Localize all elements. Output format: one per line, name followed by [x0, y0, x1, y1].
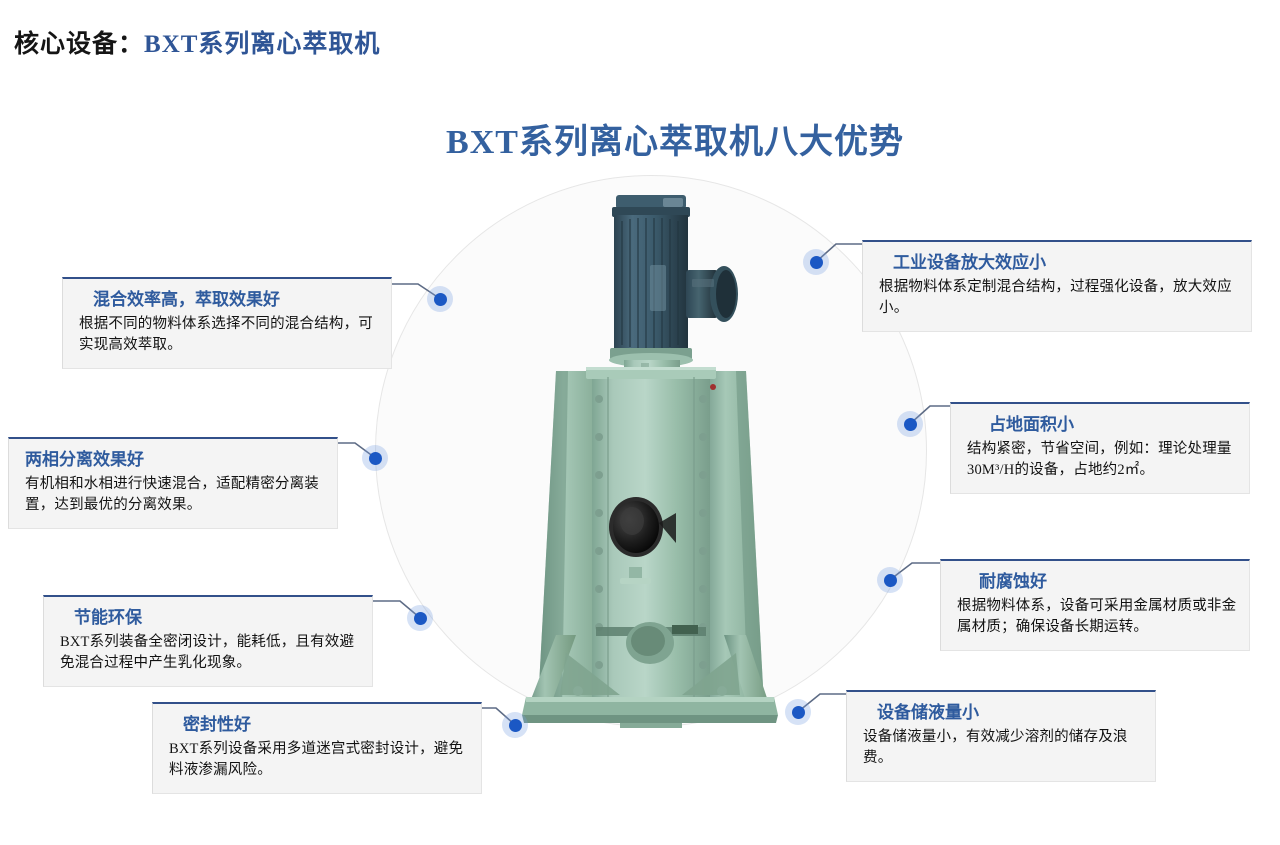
- advantage-title: 两相分离效果好: [25, 448, 325, 472]
- node-corrosion-resistance[interactable]: [877, 567, 903, 593]
- advantage-card-low-holdup[interactable]: 设备储液量小 设备储液量小，有效减少溶剂的储存及浪费。: [846, 690, 1156, 782]
- advantage-title: 节能环保: [60, 606, 360, 630]
- advantage-title: 工业设备放大效应小: [879, 251, 1239, 275]
- advantage-card-two-phase-separation[interactable]: 两相分离效果好 有机相和水相进行快速混合，适配精密分离装置，达到最优的分离效果。: [8, 437, 338, 529]
- slide-canvas: 核心设备：BXT系列离心萃取机 BXT系列离心萃取机八大优势: [0, 0, 1280, 845]
- node-two-phase-separation[interactable]: [362, 445, 388, 471]
- advantage-card-mixing-efficiency[interactable]: 混合效率高，萃取效果好 根据不同的物料体系选择不同的混合结构，可实现高效萃取。: [62, 277, 392, 369]
- advantage-title: 设备储液量小: [863, 701, 1143, 725]
- advantage-body: 根据物料体系定制混合结构，过程强化设备，放大效应小。: [879, 277, 1239, 319]
- node-sealing[interactable]: [502, 712, 528, 738]
- node-mixing-efficiency[interactable]: [427, 286, 453, 312]
- advantage-card-corrosion-resistance[interactable]: 耐腐蚀好 根据物料体系，设备可采用金属材质或非金属材质；确保设备长期运转。: [940, 559, 1250, 651]
- node-scale-up-effect[interactable]: [803, 249, 829, 275]
- advantage-body: 根据物料体系，设备可采用金属材质或非金属材质；确保设备长期运转。: [957, 596, 1237, 638]
- advantage-card-scale-up-effect[interactable]: 工业设备放大效应小 根据物料体系定制混合结构，过程强化设备，放大效应小。: [862, 240, 1252, 332]
- advantage-title: 占地面积小: [967, 413, 1237, 437]
- advantage-card-footprint[interactable]: 占地面积小 结构紧密，节省空间，例如：理论处理量30M³/H的设备，占地约2㎡。: [950, 402, 1250, 494]
- advantage-card-energy-saving[interactable]: 节能环保 BXT系列装备全密闭设计，能耗低，且有效避免混合过程中产生乳化现象。: [43, 595, 373, 687]
- node-footprint[interactable]: [897, 411, 923, 437]
- advantage-body: 有机相和水相进行快速混合，适配精密分离装置，达到最优的分离效果。: [25, 474, 325, 516]
- advantage-title: 耐腐蚀好: [957, 570, 1237, 594]
- advantage-body: 设备储液量小，有效减少溶剂的储存及浪费。: [863, 727, 1143, 769]
- advantage-body: BXT系列设备采用多道迷宫式密封设计，避免料液渗漏风险。: [169, 739, 469, 781]
- advantage-card-sealing[interactable]: 密封性好 BXT系列设备采用多道迷宫式密封设计，避免料液渗漏风险。: [152, 702, 482, 794]
- advantage-body: 结构紧密，节省空间，例如：理论处理量30M³/H的设备，占地约2㎡。: [967, 439, 1237, 481]
- advantage-title: 混合效率高，萃取效果好: [79, 288, 379, 312]
- advantage-title: 密封性好: [169, 713, 469, 737]
- advantage-body: BXT系列装备全密闭设计，能耗低，且有效避免混合过程中产生乳化现象。: [60, 632, 360, 674]
- node-energy-saving[interactable]: [407, 605, 433, 631]
- node-low-holdup[interactable]: [785, 699, 811, 725]
- advantage-body: 根据不同的物料体系选择不同的混合结构，可实现高效萃取。: [79, 314, 379, 356]
